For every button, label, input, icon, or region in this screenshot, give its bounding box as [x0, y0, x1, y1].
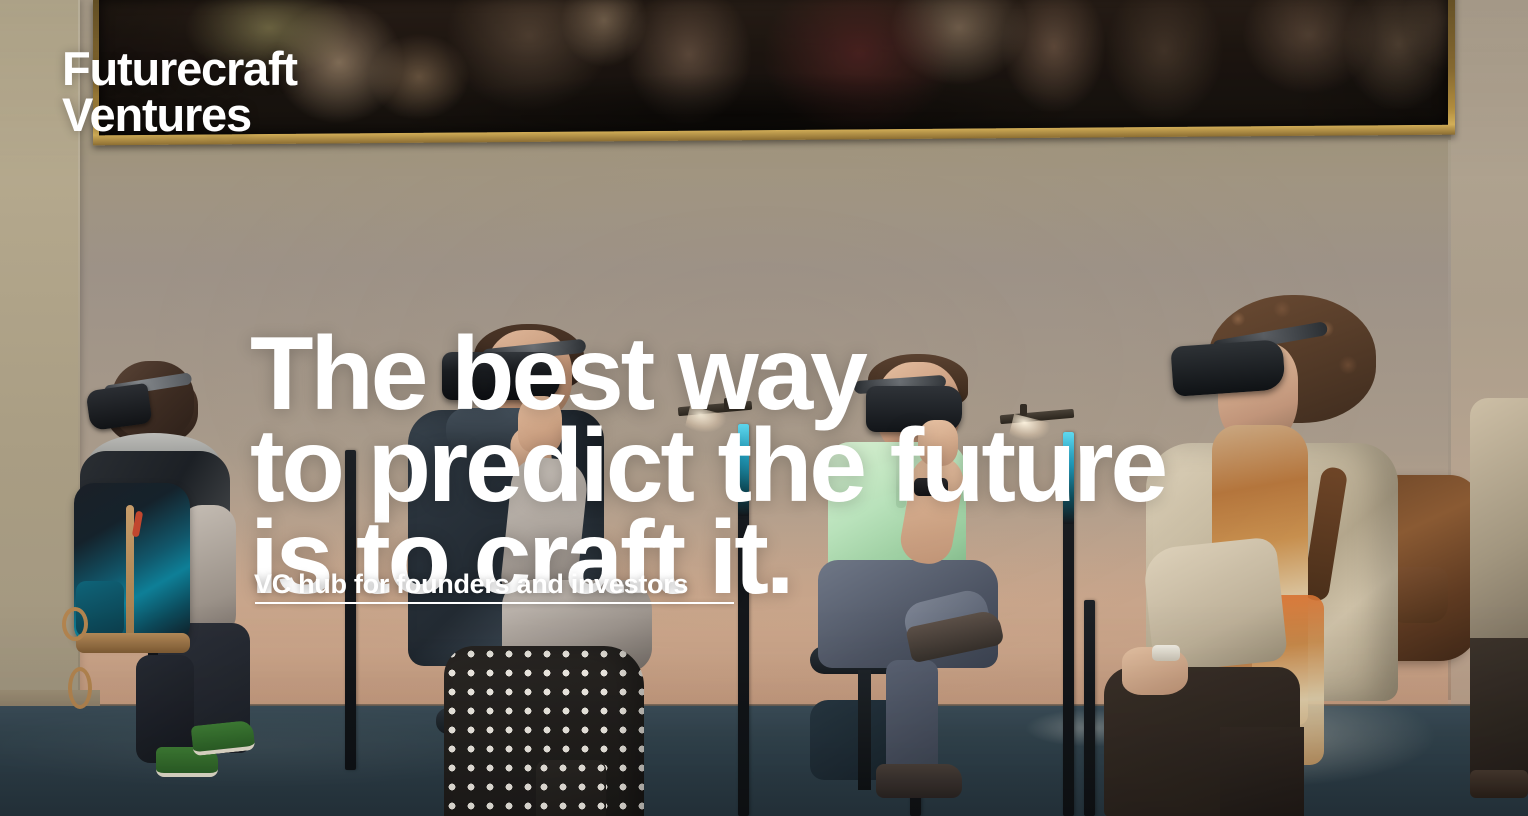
hero-text-overlay: Futurecraft Ventures The best way to pre…	[0, 0, 1528, 816]
brand-logo[interactable]: Futurecraft Ventures	[62, 46, 297, 138]
hero-subtitle-underline	[255, 602, 734, 604]
hero-banner: Futurecraft Ventures The best way to pre…	[0, 0, 1528, 816]
hero-headline: The best way to predict the future is to…	[250, 328, 1165, 604]
